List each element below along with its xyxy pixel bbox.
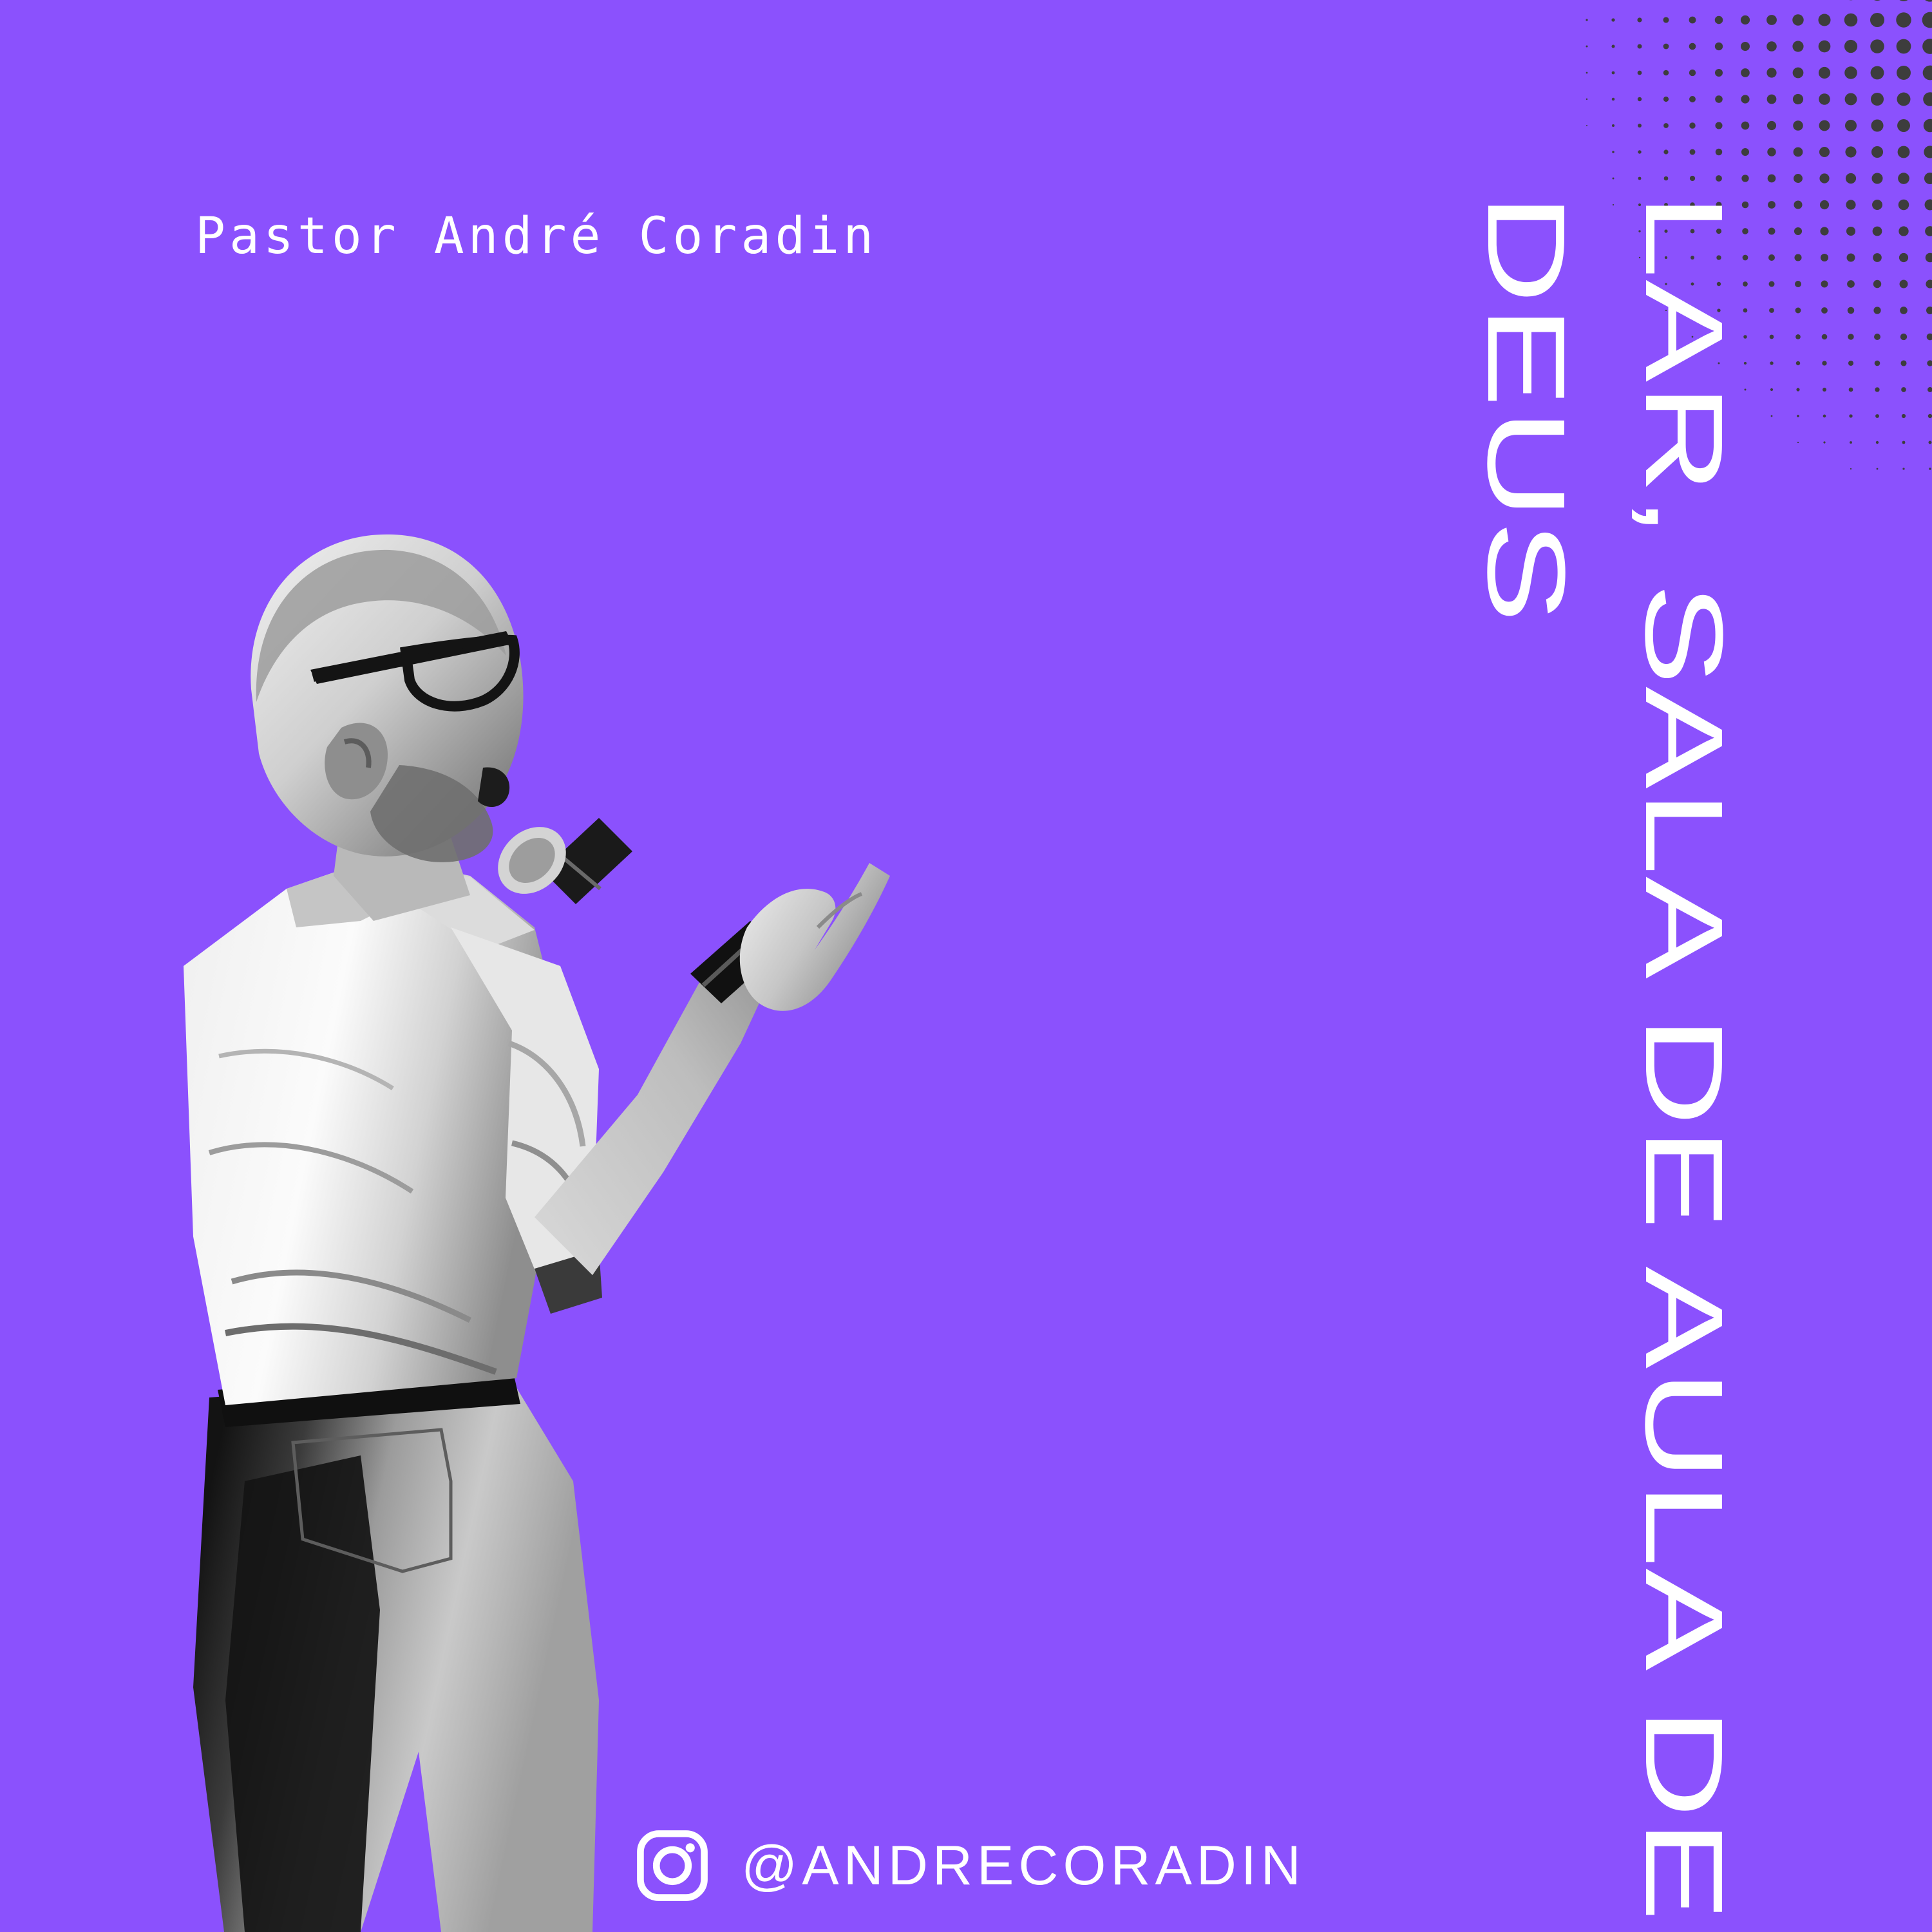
instagram-icon[interactable] [634,1828,710,1904]
instagram-handle[interactable]: @ANDRECORADIN [741,1838,1305,1893]
speaker-name-label: Pastor André Coradin [195,207,877,265]
speaker-photo [148,477,921,1932]
poster-canvas: LAR, SALA DE AULA DE DEUS Pastor André C… [0,0,1932,1932]
instagram-footer[interactable]: @ANDRECORADIN [634,1828,1305,1904]
